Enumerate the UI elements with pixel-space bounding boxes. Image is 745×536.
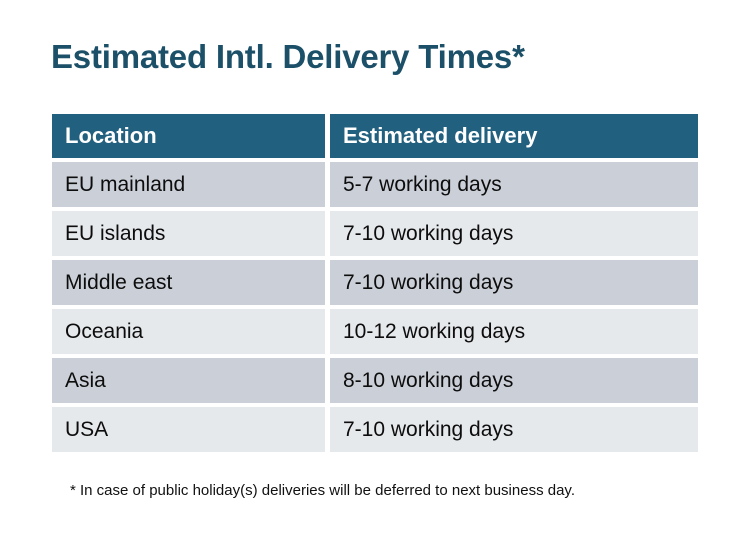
table-header-row: Location Estimated delivery — [52, 114, 698, 158]
cell-delivery: 10-12 working days — [330, 309, 698, 354]
cell-location: Middle east — [52, 260, 325, 305]
table-header: Location Estimated delivery — [52, 114, 698, 158]
table-body: EU mainland 5-7 working days EU islands … — [52, 162, 698, 452]
cell-delivery: 7-10 working days — [330, 211, 698, 256]
table-row: USA 7-10 working days — [52, 407, 698, 452]
delivery-times-page: Estimated Intl. Delivery Times* Location… — [0, 0, 745, 536]
cell-delivery: 7-10 working days — [330, 407, 698, 452]
estimated-delivery-table: Location Estimated delivery EU mainland … — [47, 110, 703, 456]
footnote: * In case of public holiday(s) deliverie… — [70, 481, 575, 501]
table-row: Asia 8-10 working days — [52, 358, 698, 403]
column-header-location: Location — [52, 114, 325, 158]
table-row: EU mainland 5-7 working days — [52, 162, 698, 207]
cell-location: Asia — [52, 358, 325, 403]
page-title: Estimated Intl. Delivery Times* — [51, 36, 525, 78]
cell-location: USA — [52, 407, 325, 452]
table-row: EU islands 7-10 working days — [52, 211, 698, 256]
cell-location: EU mainland — [52, 162, 325, 207]
cell-location: Oceania — [52, 309, 325, 354]
column-header-estimated-delivery: Estimated delivery — [330, 114, 698, 158]
table-row: Middle east 7-10 working days — [52, 260, 698, 305]
cell-location: EU islands — [52, 211, 325, 256]
cell-delivery: 5-7 working days — [330, 162, 698, 207]
cell-delivery: 8-10 working days — [330, 358, 698, 403]
table-row: Oceania 10-12 working days — [52, 309, 698, 354]
cell-delivery: 7-10 working days — [330, 260, 698, 305]
